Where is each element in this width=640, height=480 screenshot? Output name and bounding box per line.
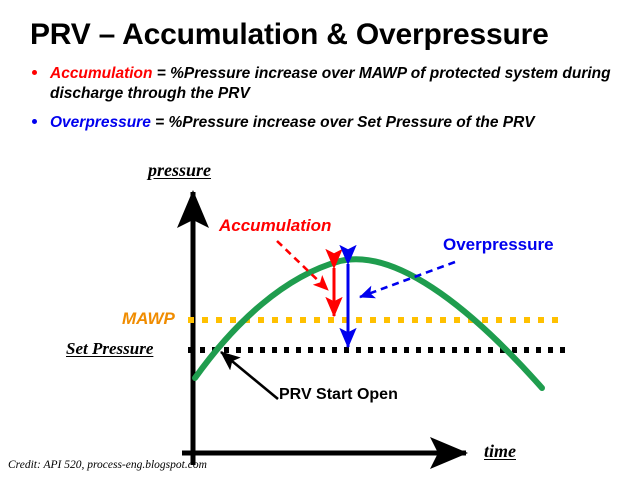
x-axis-label: time: [484, 441, 516, 462]
mawp-line-label: MAWP: [122, 309, 175, 329]
credit-text: Credit: API 520, process-eng.blogspot.co…: [8, 459, 207, 471]
set-pressure-line-label: Set Pressure: [66, 339, 153, 359]
accumulation-annotation-label: Accumulation: [219, 216, 331, 236]
slide-canvas: PRV – Accumulation & Overpressure Accumu…: [0, 0, 640, 480]
y-axis-label: pressure: [148, 160, 211, 181]
prv-start-open-annotation-label: PRV Start Open: [279, 386, 398, 404]
overpressure-annotation-label: Overpressure: [443, 235, 554, 255]
pressure-curve: [195, 259, 542, 388]
prv-start-open-leader-arrow: [221, 352, 278, 399]
